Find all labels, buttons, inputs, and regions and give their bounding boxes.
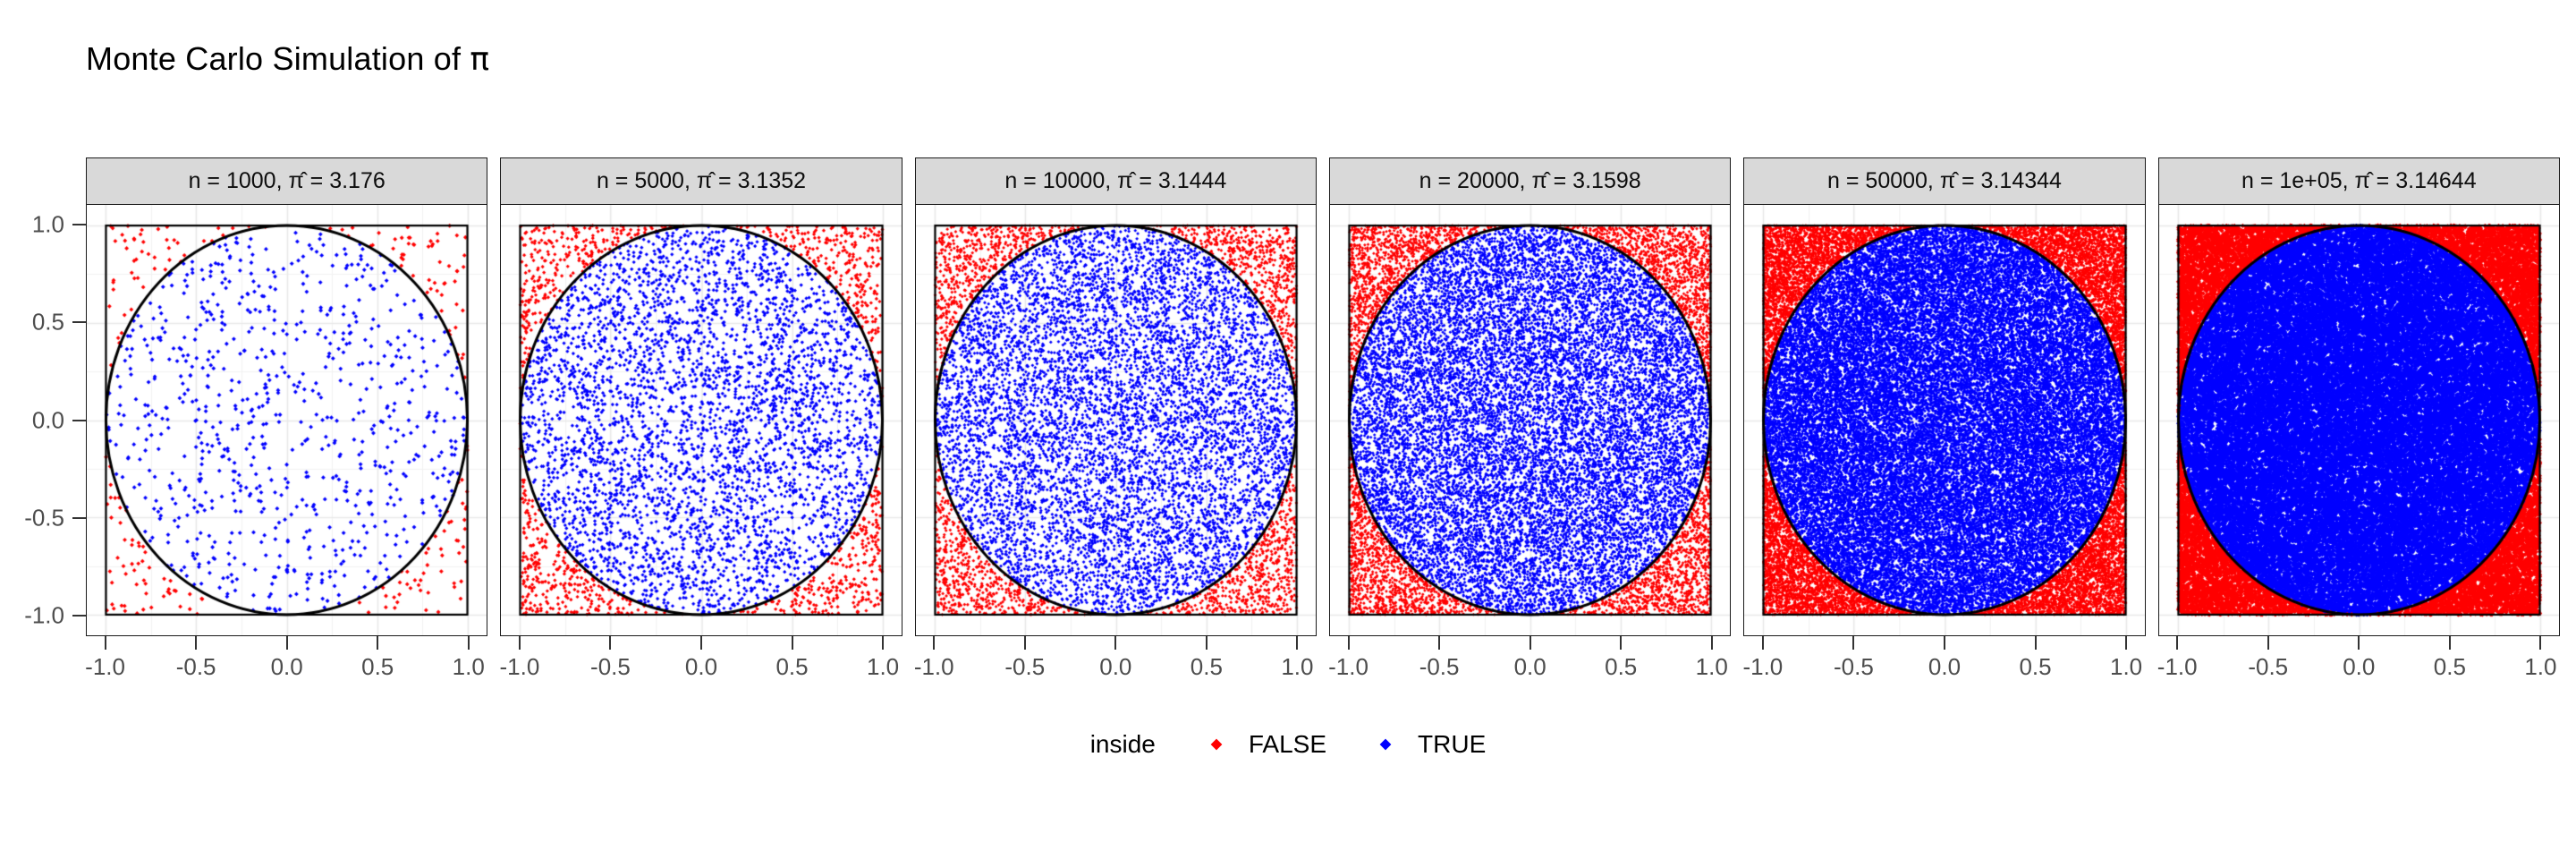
x-tick-mark-5-1	[1852, 636, 1854, 650]
legend-label-false: FALSE	[1249, 730, 1326, 759]
x-tick-mark-3-0	[933, 636, 935, 650]
point-marker-false-icon	[1197, 730, 1236, 759]
facet-strip-label-1: n = 1000, π̂ = 3.176	[86, 157, 487, 204]
y-tick-label-4: -1.0	[24, 601, 64, 629]
x-tick-label-2-1: -0.5	[590, 653, 631, 681]
x-tick-mark-2-0	[519, 636, 521, 650]
facet-panel-3: n = 10000, π̂ = 3.1444	[915, 157, 1317, 636]
x-tick-label-4-1: -0.5	[1419, 653, 1460, 681]
x-tick-label-6-2: 0.0	[2343, 653, 2375, 681]
facet-strip-label-6: n = 1e+05, π̂ = 3.14644	[2158, 157, 2560, 204]
facet-grid: n = 1000, π̂ = 3.176n = 5000, π̂ = 3.135…	[86, 157, 2560, 636]
x-tick-mark-5-3	[2035, 636, 2037, 650]
x-tick-mark-6-0	[2176, 636, 2178, 650]
x-tick-mark-6-3	[2449, 636, 2451, 650]
x-tick-label-3-1: -0.5	[1004, 653, 1045, 681]
x-tick-label-2-2: 0.0	[685, 653, 717, 681]
x-axis-cell-2: -1.0-0.50.00.51.0	[500, 636, 902, 690]
x-tick-label-4-0: -1.0	[1328, 653, 1368, 681]
x-tick-label-5-4: 1.0	[2110, 653, 2142, 681]
facet-plot-area-4[interactable]	[1329, 204, 1731, 636]
x-tick-label-1-3: 0.5	[361, 653, 394, 681]
facet-strip-label-3: n = 10000, π̂ = 3.1444	[915, 157, 1317, 204]
x-tick-mark-2-4	[882, 636, 884, 650]
x-axis-cell-5: -1.0-0.50.00.51.0	[1743, 636, 2145, 690]
x-tick-mark-5-2	[1944, 636, 1945, 650]
x-tick-mark-1-4	[468, 636, 470, 650]
legend-title: inside	[1090, 730, 1156, 759]
y-tick-mark-3	[72, 517, 86, 519]
x-tick-mark-3-4	[1296, 636, 1298, 650]
y-tick-label-3: -0.5	[24, 504, 64, 532]
x-axis-cell-4: -1.0-0.50.00.51.0	[1329, 636, 1731, 690]
facet-panel-4: n = 20000, π̂ = 3.1598	[1329, 157, 1731, 636]
title-text: Monte Carlo Simulation of	[86, 40, 470, 77]
x-tick-label-5-3: 0.5	[2019, 653, 2051, 681]
x-tick-mark-3-3	[1206, 636, 1207, 650]
x-tick-mark-4-2	[1529, 636, 1531, 650]
x-tick-label-1-0: -1.0	[85, 653, 125, 681]
facet-strip-label-4: n = 20000, π̂ = 3.1598	[1329, 157, 1731, 204]
x-tick-mark-1-2	[286, 636, 288, 650]
x-tick-label-6-4: 1.0	[2524, 653, 2556, 681]
x-tick-mark-5-0	[1762, 636, 1764, 650]
x-tick-mark-4-3	[1620, 636, 1622, 650]
x-tick-mark-1-3	[377, 636, 378, 650]
x-tick-mark-3-1	[1024, 636, 1026, 650]
scatter-canvas-2	[501, 205, 901, 635]
y-tick-label-1: 0.5	[32, 309, 64, 336]
x-tick-label-6-0: -1.0	[2157, 653, 2198, 681]
facet-plot-area-2[interactable]	[500, 204, 902, 636]
facet-plot-area-6[interactable]	[2158, 204, 2560, 636]
x-tick-label-6-1: -0.5	[2248, 653, 2288, 681]
plot-root: Monte Carlo Simulation of π 1.00.50.0-0.…	[0, 0, 2576, 859]
x-tick-mark-6-2	[2358, 636, 2360, 650]
x-tick-mark-5-4	[2125, 636, 2127, 650]
scatter-canvas-5	[1744, 205, 2144, 635]
y-tick-mark-0	[72, 224, 86, 225]
x-tick-mark-4-0	[1348, 636, 1350, 650]
x-tick-label-3-3: 0.5	[1191, 653, 1223, 681]
y-tick-label-0: 1.0	[32, 211, 64, 239]
x-tick-label-1-4: 1.0	[453, 653, 485, 681]
x-tick-label-4-4: 1.0	[1696, 653, 1728, 681]
x-tick-label-1-1: -0.5	[176, 653, 216, 681]
facet-panel-2: n = 5000, π̂ = 3.1352	[500, 157, 902, 636]
x-tick-mark-2-1	[609, 636, 611, 650]
x-axis: -1.0-0.50.00.51.0-1.0-0.50.00.51.0-1.0-0…	[86, 636, 2560, 690]
facet-panel-5: n = 50000, π̂ = 3.14344	[1743, 157, 2145, 636]
x-axis-cell-3: -1.0-0.50.00.51.0	[915, 636, 1317, 690]
facet-plot-area-1[interactable]	[86, 204, 487, 636]
x-axis-cell-6: -1.0-0.50.00.51.0	[2158, 636, 2560, 690]
x-tick-label-5-1: -0.5	[1834, 653, 1874, 681]
y-tick-mark-2	[72, 420, 86, 421]
x-tick-label-3-2: 0.0	[1099, 653, 1131, 681]
x-tick-mark-1-1	[195, 636, 197, 650]
y-tick-mark-1	[72, 321, 86, 323]
facet-panel-1: n = 1000, π̂ = 3.176	[86, 157, 487, 636]
facet-plot-area-5[interactable]	[1743, 204, 2145, 636]
facet-plot-area-3[interactable]	[915, 204, 1317, 636]
x-tick-label-4-3: 0.5	[1605, 653, 1637, 681]
x-tick-label-1-2: 0.0	[271, 653, 303, 681]
x-tick-label-2-0: -1.0	[499, 653, 539, 681]
x-tick-mark-6-1	[2267, 636, 2269, 650]
facet-panel-6: n = 1e+05, π̂ = 3.14644	[2158, 157, 2560, 636]
legend-item-true[interactable]: TRUE	[1366, 730, 1486, 759]
x-tick-label-6-3: 0.5	[2434, 653, 2466, 681]
legend: inside FALSETRUE	[0, 725, 2576, 764]
scatter-canvas-3	[916, 205, 1316, 635]
x-tick-label-5-2: 0.0	[1928, 653, 1961, 681]
facet-strip-label-2: n = 5000, π̂ = 3.1352	[500, 157, 902, 204]
legend-label-true: TRUE	[1418, 730, 1486, 759]
x-tick-mark-1-0	[105, 636, 106, 650]
x-tick-label-2-3: 0.5	[775, 653, 808, 681]
scatter-canvas-1	[87, 205, 487, 635]
legend-item-false[interactable]: FALSE	[1197, 730, 1326, 759]
pi-symbol: π	[470, 41, 489, 78]
y-tick-label-2: 0.0	[32, 406, 64, 434]
page-title: Monte Carlo Simulation of π	[86, 39, 489, 80]
x-tick-label-5-0: -1.0	[1742, 653, 1783, 681]
y-tick-mark-4	[72, 615, 86, 617]
x-tick-mark-2-3	[792, 636, 793, 650]
facet-strip-label-5: n = 50000, π̂ = 3.14344	[1743, 157, 2145, 204]
x-tick-label-2-4: 1.0	[867, 653, 899, 681]
scatter-canvas-4	[1330, 205, 1730, 635]
x-tick-mark-6-4	[2539, 636, 2541, 650]
x-tick-mark-2-2	[700, 636, 702, 650]
x-tick-label-3-0: -1.0	[914, 653, 954, 681]
point-marker-true-icon	[1366, 730, 1405, 759]
x-tick-label-3-4: 1.0	[1281, 653, 1313, 681]
x-tick-mark-4-4	[1711, 636, 1713, 650]
x-axis-cell-1: -1.0-0.50.00.51.0	[86, 636, 487, 690]
y-axis: 1.00.50.0-0.5-1.0	[0, 204, 86, 636]
x-tick-mark-4-1	[1438, 636, 1440, 650]
x-tick-label-4-2: 0.0	[1514, 653, 1546, 681]
scatter-canvas-6	[2159, 205, 2559, 635]
x-tick-mark-3-2	[1114, 636, 1116, 650]
